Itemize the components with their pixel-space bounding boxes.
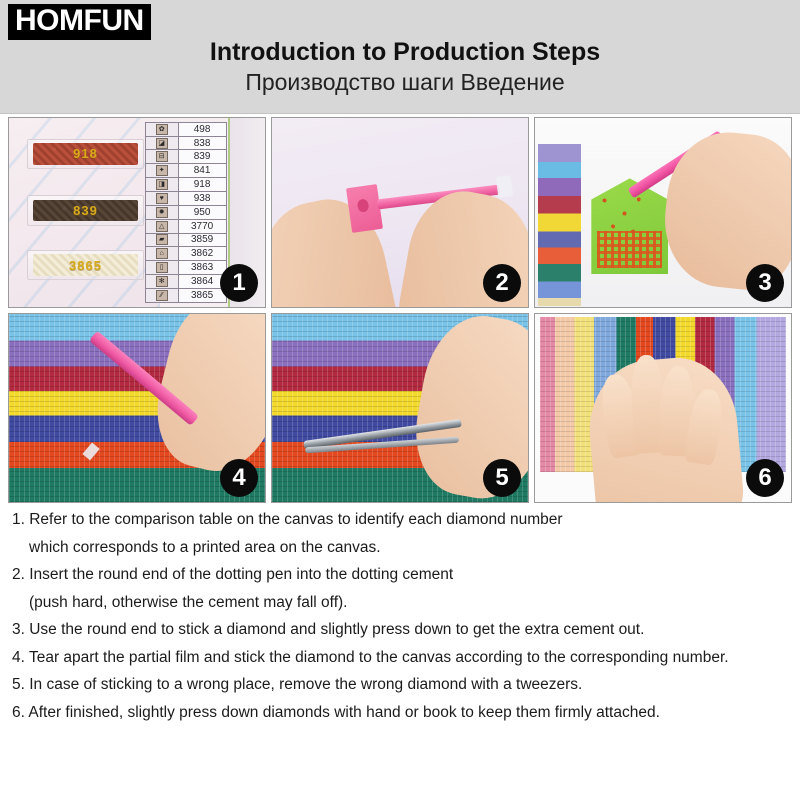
canvas-strip: [538, 144, 582, 306]
code-cell: 3863: [179, 261, 226, 274]
instruction-line: 2. Insert the round end of the dotting p…: [12, 567, 788, 583]
brand-logo: HOMFUN: [8, 4, 151, 40]
page-header: HOMFUN Introduction to Production Steps …: [0, 0, 800, 114]
code-cell: 950: [179, 206, 226, 219]
step-badge: 3: [746, 264, 784, 302]
step-badge: 1: [220, 264, 258, 302]
step-photo-grid: 918 839 3865 ✿ 498 ◪: [8, 117, 792, 503]
symbol-cell: ✿: [146, 123, 179, 136]
table-row: ◪ 838: [145, 137, 227, 151]
instruction-line: 1. Refer to the comparison table on the …: [12, 512, 788, 528]
instruction-line: 3. Use the round end to stick a diamond …: [12, 622, 788, 638]
symbol-cell: ⊟: [146, 150, 179, 163]
table-row: △ 3770: [145, 220, 227, 234]
code-cell: 3865: [179, 289, 226, 302]
diamond-bag: 3865: [27, 250, 144, 280]
instruction-step: 6. After finished, slightly press down d…: [12, 705, 788, 721]
code-cell: 841: [179, 164, 226, 177]
chart-symbol: ✻: [156, 276, 168, 287]
table-row: ⌂ 3862: [145, 247, 227, 261]
instruction-step: 1. Refer to the comparison table on the …: [12, 512, 788, 555]
chart-symbol: ✹: [156, 207, 168, 218]
loose-diamonds: [596, 190, 652, 243]
code-cell: 839: [179, 150, 226, 163]
code-cell: 3859: [179, 234, 226, 247]
table-row: ✹ 950: [145, 206, 227, 220]
table-row: ✦ 841: [145, 164, 227, 178]
chart-symbol: ⊟: [156, 151, 168, 162]
symbol-cell: △: [146, 220, 179, 233]
chart-symbol: △: [156, 221, 168, 232]
page-subtitle-russian: Производство шаги Введение: [0, 68, 800, 97]
dotting-cement: [346, 184, 383, 233]
code-cell: 498: [179, 123, 226, 136]
instruction-step: 3. Use the round end to stick a diamond …: [12, 622, 788, 638]
chart-symbol: ⌂: [156, 248, 168, 259]
table-row: ⊟ 839: [145, 150, 227, 164]
step-badge: 5: [483, 459, 521, 497]
table-row: ⁄⁄ 3865: [145, 289, 227, 303]
code-cell: 938: [179, 192, 226, 205]
symbol-cell: ◪: [146, 137, 179, 150]
table-row: ♥ 938: [145, 192, 227, 206]
chart-symbol: ✦: [156, 165, 168, 176]
step-photo-2: 2: [271, 117, 529, 308]
symbol-cell: ✹: [146, 206, 179, 219]
chart-symbol: ▰: [156, 234, 168, 245]
symbol-cell: ▰: [146, 234, 179, 247]
chart-symbol: ⁄⁄: [156, 290, 168, 301]
instruction-line: (push hard, otherwise the cement may fal…: [12, 595, 788, 611]
instruction-step: 4. Tear apart the partial film and stick…: [12, 650, 788, 666]
instruction-line: 5. In case of sticking to a wrong place,…: [12, 677, 788, 693]
symbol-cell: ⁄⁄: [146, 289, 179, 302]
code-cell: 3770: [179, 220, 226, 233]
table-row: ✻ 3864: [145, 275, 227, 289]
chart-symbol: ♥: [156, 193, 168, 204]
instruction-step: 2. Insert the round end of the dotting p…: [12, 567, 788, 610]
diamond-bag: 839: [27, 195, 144, 225]
instruction-list: 1. Refer to the comparison table on the …: [0, 512, 800, 732]
table-row: ✿ 498: [145, 122, 227, 137]
chart-symbol: ◪: [156, 138, 168, 149]
step-badge: 4: [220, 459, 258, 497]
chart-symbol: ◨: [156, 179, 168, 190]
table-row: ▰ 3859: [145, 234, 227, 248]
step-photo-5: 5: [271, 313, 529, 504]
code-cell: 918: [179, 178, 226, 191]
step-photo-1: 918 839 3865 ✿ 498 ◪: [8, 117, 266, 308]
symbol-cell: ▯: [146, 261, 179, 274]
packaging-backdrop: 918 839 3865: [9, 118, 160, 307]
instruction-step: 5. In case of sticking to a wrong place,…: [12, 677, 788, 693]
bag-label: 839: [73, 203, 98, 218]
step-badge: 6: [746, 459, 784, 497]
table-row: ◨ 918: [145, 178, 227, 192]
instruction-sheet: HOMFUN Introduction to Production Steps …: [0, 0, 800, 800]
step-photo-4: 4: [8, 313, 266, 504]
chart-symbol: ▯: [156, 262, 168, 273]
bag-label: 3865: [69, 258, 102, 273]
step-photo-6: 6: [534, 313, 792, 504]
table-row: ▯ 3863: [145, 261, 227, 275]
instruction-line: which corresponds to a printed area on t…: [12, 540, 788, 556]
code-cell: 3862: [179, 247, 226, 260]
bag-label: 918: [73, 146, 98, 161]
step-badge: 2: [483, 264, 521, 302]
code-cell: 838: [179, 137, 226, 150]
diamond-bag: 918: [27, 139, 144, 169]
symbol-cell: ♥: [146, 192, 179, 205]
color-comparison-table: ✿ 498 ◪ 838 ⊟ 839 ✦ 841 ◨ 918: [145, 122, 227, 303]
pen-cap: [496, 176, 514, 198]
page-title: Introduction to Production Steps: [0, 38, 800, 67]
instruction-line: 4. Tear apart the partial film and stick…: [12, 650, 788, 666]
title-block: Introduction to Production Steps Произво…: [0, 38, 800, 97]
step-photo-3: 3: [534, 117, 792, 308]
symbol-cell: ⌂: [146, 247, 179, 260]
chart-symbol: ✿: [156, 124, 168, 135]
symbol-cell: ✻: [146, 275, 179, 288]
symbol-cell: ◨: [146, 178, 179, 191]
code-cell: 3864: [179, 275, 226, 288]
symbol-cell: ✦: [146, 164, 179, 177]
instruction-line: 6. After finished, slightly press down d…: [12, 705, 788, 721]
